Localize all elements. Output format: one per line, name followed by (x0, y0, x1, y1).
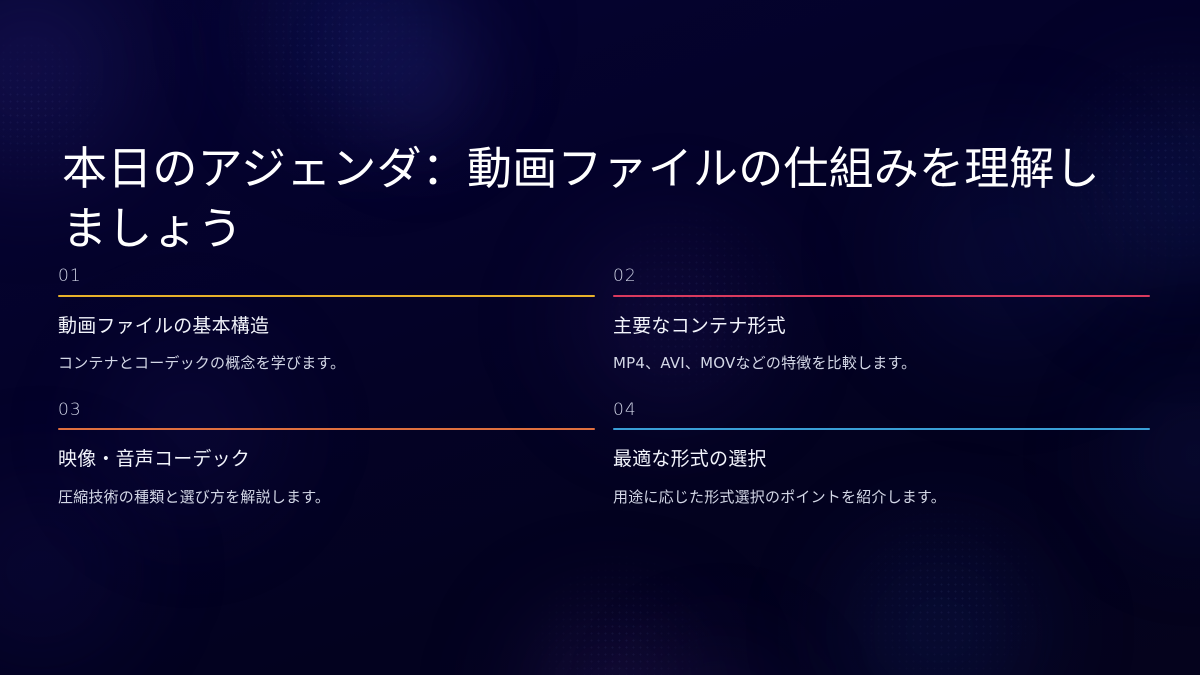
agenda-item-rule (58, 428, 595, 430)
agenda-item-number: 04 (613, 401, 1150, 420)
agenda-item-rule (58, 295, 595, 297)
slide-title: 本日のアジェンダ：動画ファイルの仕組みを理解しましょう (62, 139, 1122, 260)
agenda-item-02: 02 主要なコンテナ形式 MP4、AVI、MOVなどの特徴を比較します。 (613, 267, 1150, 375)
agenda-item-number: 02 (613, 267, 1150, 286)
agenda-item-03: 03 映像・音声コーデック 圧縮技術の種類と選び方を解説します。 (58, 401, 595, 509)
agenda-item-description: 用途に応じた形式選択のポイントを紹介します。 (613, 486, 1150, 509)
agenda-item-rule (613, 428, 1150, 430)
agenda-item-04: 04 最適な形式の選択 用途に応じた形式選択のポイントを紹介します。 (613, 401, 1150, 509)
agenda-item-title: 映像・音声コーデック (58, 446, 595, 473)
agenda-item-title: 最適な形式の選択 (613, 446, 1150, 473)
agenda-item-number: 01 (58, 267, 595, 286)
agenda-item-number: 03 (58, 401, 595, 420)
presentation-slide: 本日のアジェンダ：動画ファイルの仕組みを理解しましょう 01 動画ファイルの基本… (0, 0, 1200, 675)
agenda-item-title: 主要なコンテナ形式 (613, 313, 1150, 340)
agenda-item-title: 動画ファイルの基本構造 (58, 313, 595, 340)
agenda-item-01: 01 動画ファイルの基本構造 コンテナとコーデックの概念を学びます。 (58, 267, 595, 375)
agenda-list: 01 動画ファイルの基本構造 コンテナとコーデックの概念を学びます。 02 主要… (58, 267, 1138, 509)
agenda-item-description: 圧縮技術の種類と選び方を解説します。 (58, 486, 595, 509)
agenda-item-description: MP4、AVI、MOVなどの特徴を比較します。 (613, 352, 1150, 375)
agenda-item-rule (613, 295, 1150, 297)
agenda-item-description: コンテナとコーデックの概念を学びます。 (58, 352, 595, 375)
slide-content: 本日のアジェンダ：動画ファイルの仕組みを理解しましょう 01 動画ファイルの基本… (0, 0, 1200, 675)
